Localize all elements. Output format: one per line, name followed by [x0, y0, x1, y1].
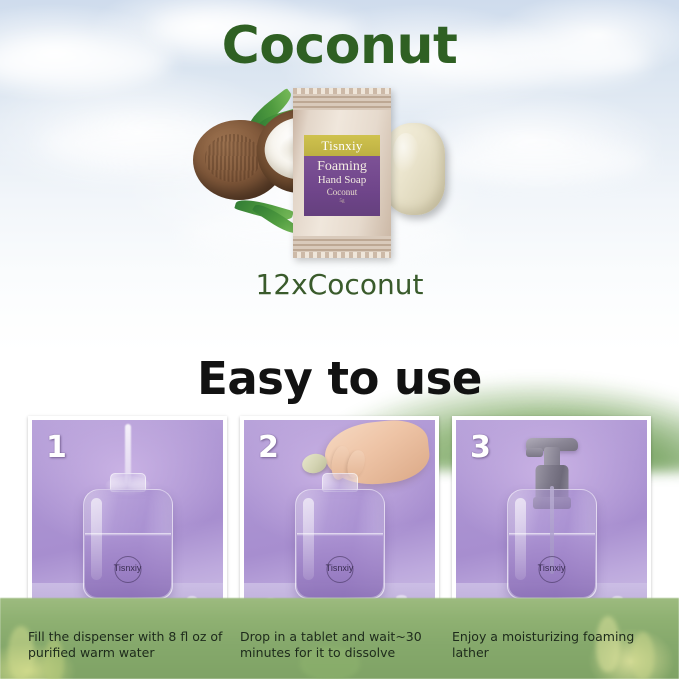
bottle-logo: Tisnxiy: [107, 555, 149, 581]
package-zigzag-top: [293, 88, 391, 94]
step-number-3: 3: [470, 430, 491, 465]
soap-bar-icon: [383, 123, 445, 215]
hero-product-group: Tisnxiy Foaming Hand Soap Coconut 5g: [185, 85, 465, 265]
section-heading: Easy to use: [0, 352, 679, 405]
pump-spout: [526, 448, 543, 457]
step-caption-3: Enjoy a moisturizing foaming lather: [452, 629, 651, 677]
package-brand-band: Tisnxiy: [304, 135, 380, 156]
step-photo-2: 2 Tisnxiy: [244, 420, 435, 617]
step-card-3: 3 Tisnxiy: [452, 416, 651, 621]
step-caption-2: Drop in a tablet and wait~30 minutes for…: [240, 629, 439, 677]
bottle-logo-text: Tisnxiy: [114, 563, 142, 573]
bottle-highlight: [515, 498, 526, 580]
product-infographic: Coconut Tisnxiy Foaming Hand Soap Coconu…: [0, 0, 679, 679]
bottle-logo-text: Tisnxiy: [326, 563, 354, 573]
package-zigzag-bottom: [293, 252, 391, 258]
product-package: Tisnxiy Foaming Hand Soap Coconut 5g: [293, 88, 391, 258]
page-title: Coconut: [0, 16, 679, 76]
step-photo-3: 3 Tisnxiy: [456, 420, 647, 617]
step-card-2: 2 Tisnxiy: [240, 416, 439, 621]
captions-row: Fill the dispenser with 8 fl oz of purif…: [28, 629, 653, 677]
step-number-2: 2: [258, 430, 279, 465]
package-label: Foaming Hand Soap Coconut 5g: [304, 156, 380, 216]
steps-row: 1 Tisnxiy 2: [28, 416, 653, 621]
package-label-line2: Hand Soap: [304, 174, 380, 187]
bottle-logo: Tisnxiy: [319, 555, 361, 581]
package-label-line3: Coconut: [304, 187, 380, 198]
package-brand-name: Tisnxiy: [321, 138, 362, 154]
step-card-1: 1 Tisnxiy: [28, 416, 227, 621]
package-label-line1: Foaming: [304, 159, 380, 174]
bottle-logo-text: Tisnxiy: [538, 563, 566, 573]
step-caption-1: Fill the dispenser with 8 fl oz of purif…: [28, 629, 227, 677]
bottle-highlight: [91, 498, 102, 580]
package-label-weight: 5g: [304, 198, 380, 206]
package-quantity-caption: 12xCoconut: [0, 268, 679, 301]
bottle-highlight: [303, 498, 314, 580]
step-number-1: 1: [46, 430, 67, 465]
step-photo-1: 1 Tisnxiy: [32, 420, 223, 617]
bottle-logo: Tisnxiy: [531, 555, 573, 581]
